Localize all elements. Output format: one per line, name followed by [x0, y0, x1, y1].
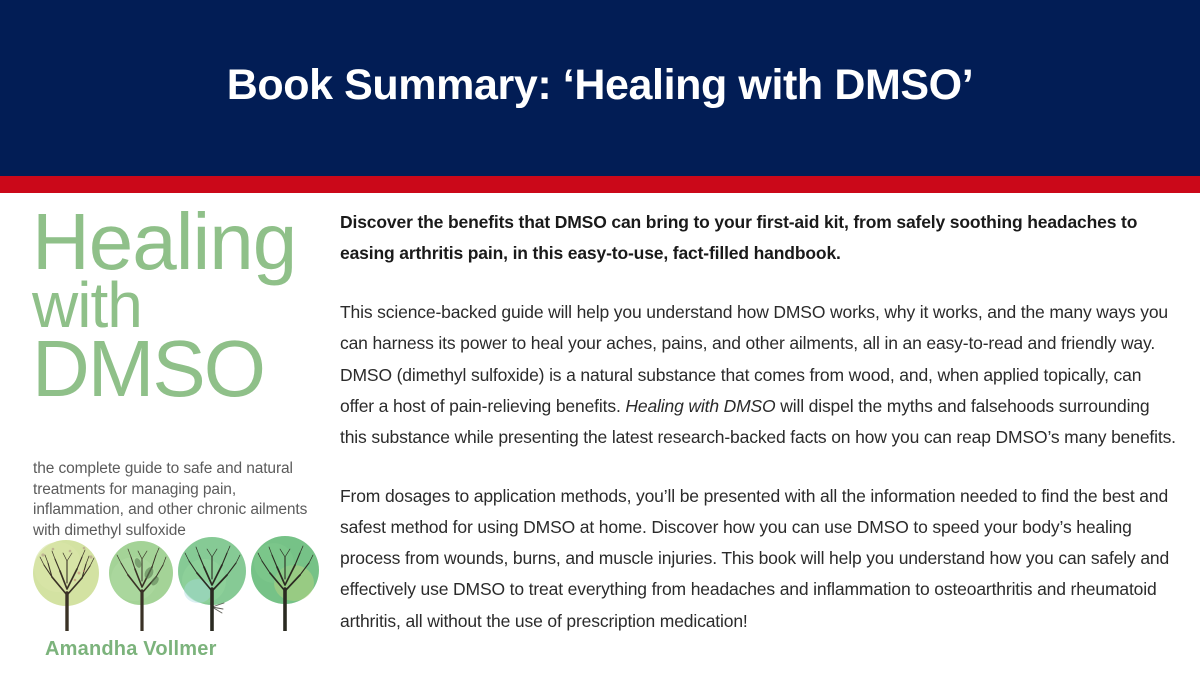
summary-text-column: Discover the benefits that DMSO can brin…: [340, 193, 1178, 637]
book-cover-author: Amandha Vollmer: [45, 638, 217, 661]
page-title: Book Summary: ‘Healing with DMSO’: [227, 61, 974, 116]
book-cover-image: Healing with DMSO the complete guide to …: [14, 201, 324, 671]
content-area: Healing with DMSO the complete guide to …: [0, 193, 1200, 675]
tree-illustration-group: [30, 533, 322, 631]
book-cover-title: Healing with DMSO: [32, 207, 322, 404]
book-cover-title-line-3: DMSO: [32, 334, 322, 404]
book-cover-title-line-1: Healing: [32, 207, 322, 277]
summary-lead-paragraph: Discover the benefits that DMSO can brin…: [340, 207, 1178, 269]
summary-paragraph-2: This science-backed guide will help you …: [340, 297, 1178, 453]
tree-pale-yellow-green-icon: [32, 533, 104, 631]
slide-root: Book Summary: ‘Healing with DMSO’ Healin…: [0, 0, 1200, 675]
book-cover-subtitle: the complete guide to safe and natural t…: [33, 459, 313, 541]
tree-medium-green-icon: [178, 533, 250, 631]
tree-light-green-icon: [106, 533, 178, 631]
accent-divider-bar: [0, 176, 1200, 193]
summary-book-title-italic: Healing with DMSO: [625, 396, 775, 416]
header-band: Book Summary: ‘Healing with DMSO’: [0, 0, 1200, 176]
summary-paragraph-3: From dosages to application methods, you…: [340, 481, 1178, 637]
tree-deep-green-icon: [250, 533, 322, 631]
